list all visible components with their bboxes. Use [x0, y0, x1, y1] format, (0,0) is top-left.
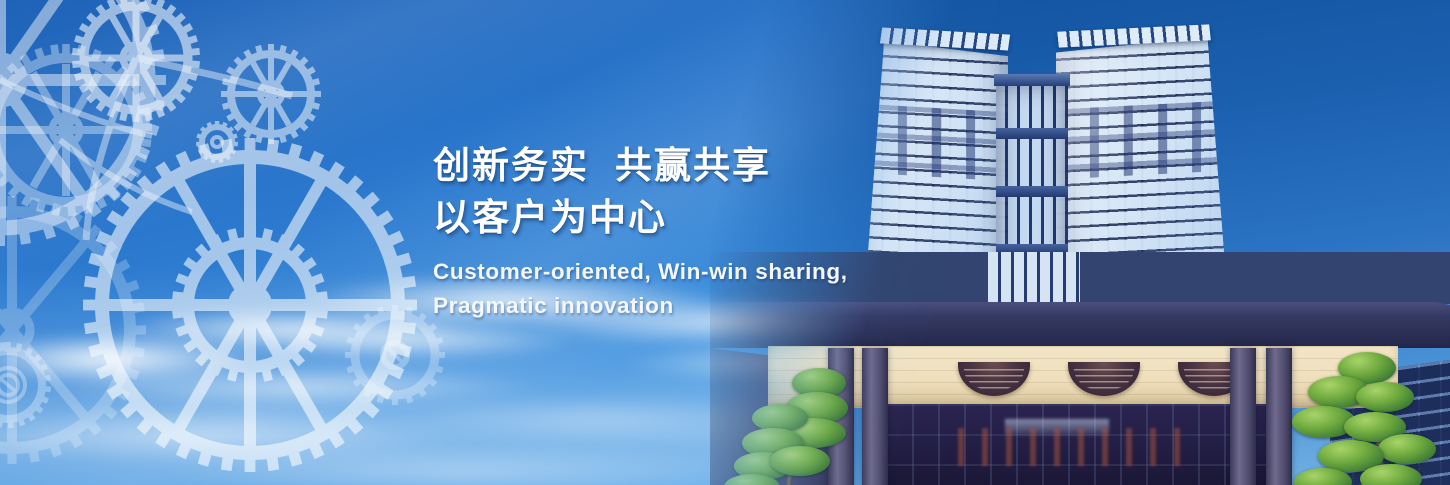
hero-banner: 创新务实共赢共享 以客户为中心 Customer-oriented, Win-w…	[0, 0, 1450, 485]
gear-mechanism-overlay	[0, 0, 500, 485]
entrance-column	[1230, 348, 1256, 485]
podium-center-glazing	[988, 252, 1080, 304]
headline-cn-line-2: 以客户为中心	[433, 192, 953, 244]
headline-cn-part-2: 共赢共享	[615, 145, 771, 186]
entrance-warm-reflection	[958, 428, 1197, 465]
subheadline-en-line-1: Customer-oriented, Win-win sharing,	[433, 255, 953, 289]
core-top-cap	[994, 74, 1070, 86]
headline-cn-part-1: 创新务实	[433, 145, 589, 186]
topiary-cluster-right	[1280, 356, 1440, 485]
headline-cn-line-1: 创新务实共赢共享	[433, 140, 953, 192]
subheadline-en-line-2: Pragmatic innovation	[433, 289, 953, 323]
banner-copy: 创新务实共赢共享 以客户为中心 Customer-oriented, Win-w…	[433, 140, 953, 323]
topiary-cluster-left	[728, 370, 878, 485]
main-entrance-glazing	[886, 404, 1284, 485]
